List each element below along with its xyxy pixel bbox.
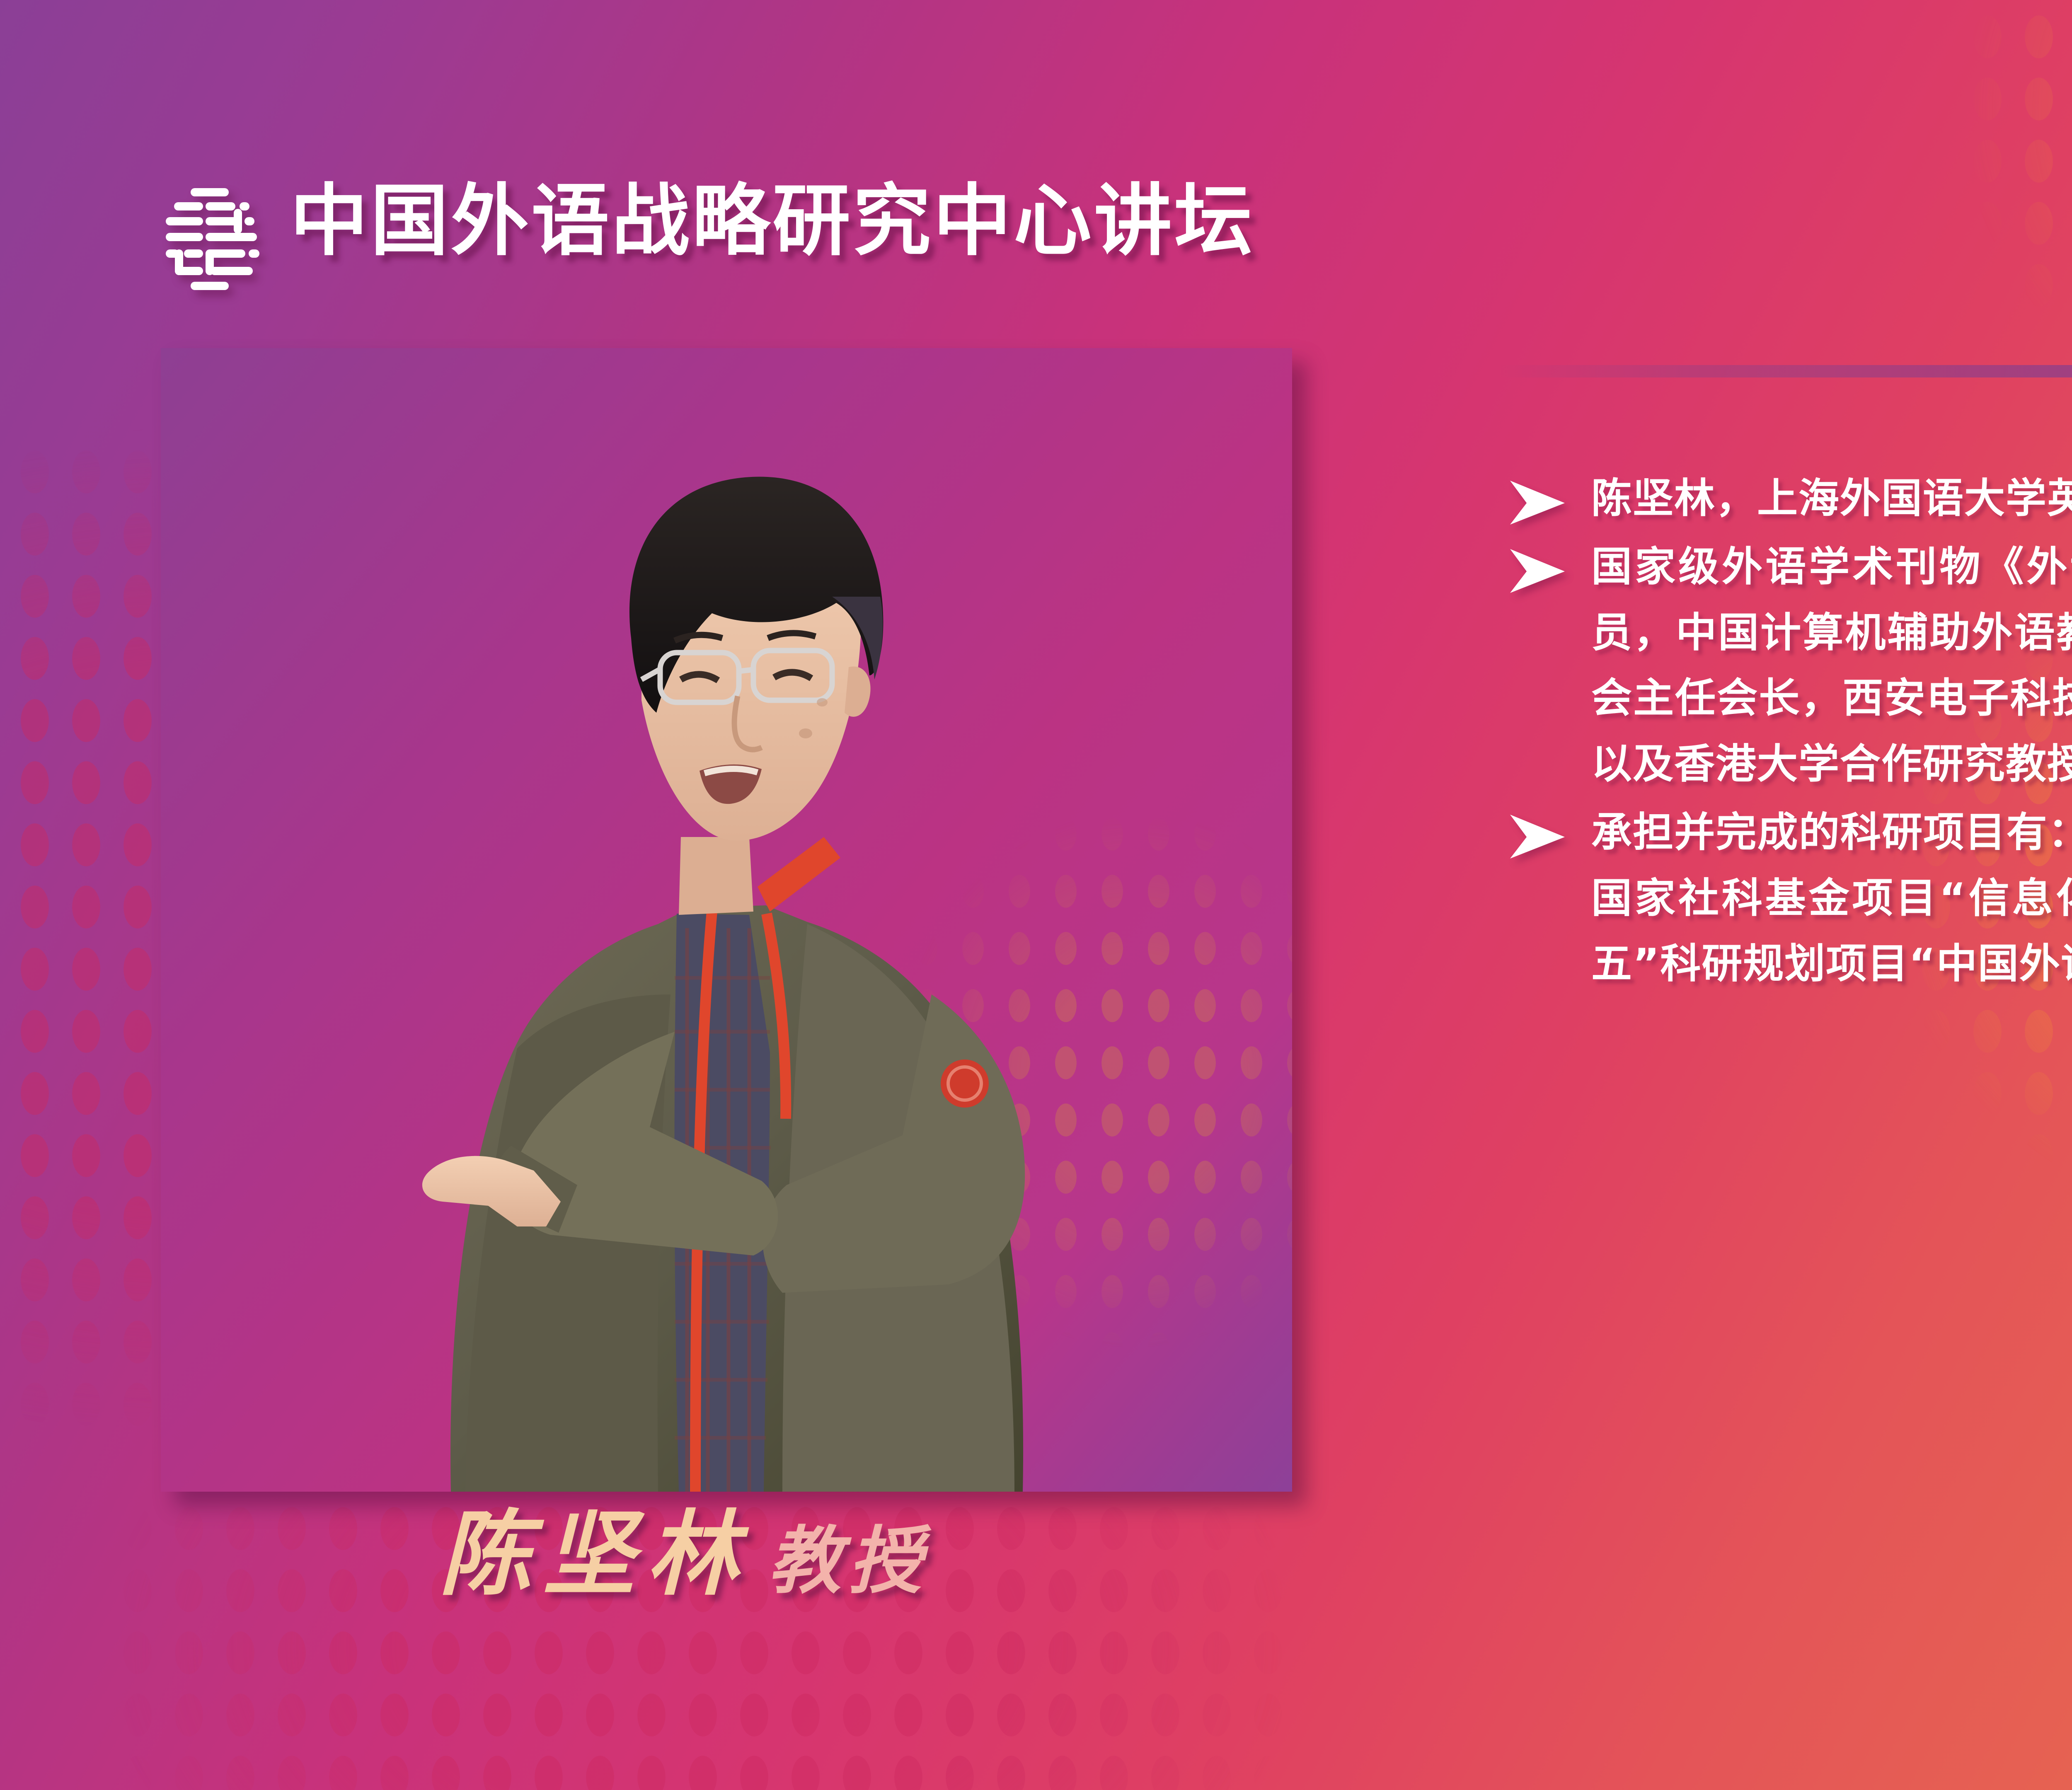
speaker-name-caption: 陈坚林教授 — [439, 1508, 929, 1600]
list-item: 国家级外语学术刊物《外语电化教学》副主编。中国外语战略研究中心兼职研究员，中国计… — [1497, 534, 2072, 797]
list-item: 承担并完成的科研项目有：国家语委“十二五”重大科研项目“语言教育规划研究”；国家… — [1497, 800, 2072, 997]
bio-bullet-list: 陈坚林，上海外国语大学英语教授，博士生导师。 国家级外语学术刊物《外语电化教学》… — [1497, 466, 2072, 999]
arrow-bullet-icon — [1508, 812, 1570, 861]
slide-canvas: 中国外语战略研究中心讲坛 主讲人简介 — [0, 0, 2072, 1790]
forum-emblem-icon — [165, 187, 260, 292]
speaker-photo-card — [161, 348, 1292, 1492]
bullet-text: 国家级外语学术刊物《外语电化教学》副主编。中国外语战略研究中心兼职研究员，中国计… — [1591, 534, 2072, 797]
speaker-role: 教授 — [768, 1518, 929, 1604]
list-item: 陈坚林，上海外国语大学英语教授，博士生导师。 — [1497, 466, 2072, 532]
speaker-name: 陈坚林 — [439, 1500, 750, 1608]
speaker-portrait — [161, 348, 1292, 1492]
arrow-bullet-icon — [1508, 478, 1570, 527]
title-underline-rule — [1497, 365, 2072, 377]
bullet-text: 承担并完成的科研项目有：国家语委“十二五”重大科研项目“语言教育规划研究”；国家… — [1591, 800, 2072, 997]
arrow-bullet-icon — [1508, 547, 1570, 595]
brand-title: 中国外语战略研究中心讲坛 — [290, 182, 1255, 260]
bullet-text: 陈坚林，上海外国语大学英语教授，博士生导师。 — [1591, 466, 2072, 532]
